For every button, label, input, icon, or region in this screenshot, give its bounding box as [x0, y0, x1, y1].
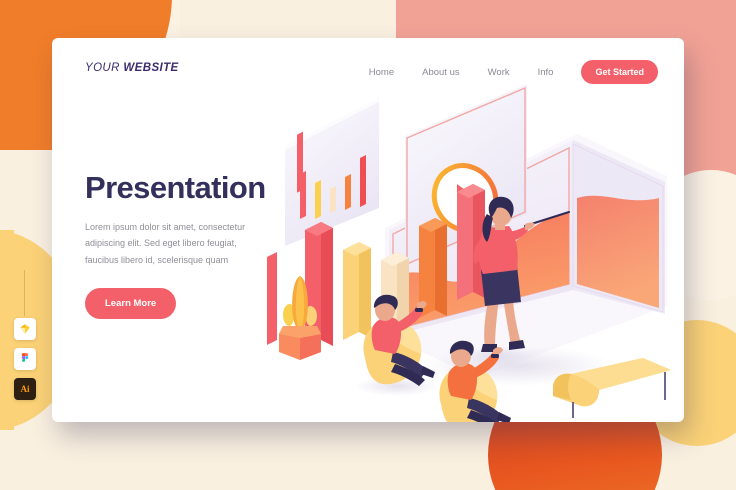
presentation-illustration [267, 78, 684, 422]
main-navigation: Home About us Work Info Get Started [369, 60, 658, 84]
hero-card: YOUR WEBSITE Home About us Work Info Get… [52, 38, 684, 422]
sketch-icon[interactable] [14, 318, 36, 340]
site-logo[interactable]: YOUR WEBSITE [85, 62, 179, 74]
nav-item-work[interactable]: Work [488, 67, 510, 78]
illustrator-icon-label: Ai [21, 384, 30, 394]
logo-text-bold: WEBSITE [123, 62, 178, 74]
get-started-button[interactable]: Get Started [581, 60, 658, 84]
hero-copy: Presentation Lorem ipsum dolor sit amet,… [85, 172, 315, 319]
page-title: Presentation [85, 172, 315, 205]
app-icon-rail: Ai [14, 318, 36, 400]
logo-text-light: YOUR [85, 62, 123, 74]
hero-paragraph: Lorem ipsum dolor sit amet, consectetur … [85, 219, 269, 269]
site-header: YOUR WEBSITE Home About us Work Info Get… [52, 38, 684, 108]
learn-more-button[interactable]: Learn More [85, 288, 176, 319]
figma-icon[interactable] [14, 348, 36, 370]
nav-item-home[interactable]: Home [369, 67, 394, 78]
page-root: Ai YOUR WEBSITE Home About us Work Info … [0, 0, 736, 490]
decor-divider-line [24, 270, 25, 316]
illustrator-icon[interactable]: Ai [14, 378, 36, 400]
nav-item-about-us[interactable]: About us [422, 67, 460, 78]
nav-item-info[interactable]: Info [538, 67, 554, 78]
